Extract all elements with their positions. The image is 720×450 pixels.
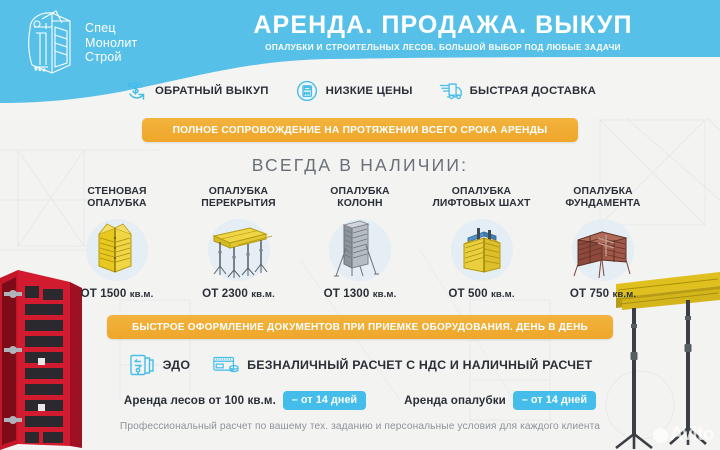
product-price: ОТ 1500 кв.м.: [58, 287, 176, 300]
term-badge: – от 14 дней: [283, 391, 366, 410]
feature-item: ОБРАТНЫЙ ВЫКУП: [124, 80, 269, 102]
brand-logo[interactable]: Спец Монолит Строй: [22, 9, 138, 77]
product-card[interactable]: ОПАЛУБКА ФУНДАМЕНТА: [544, 186, 662, 300]
feature-label: БЫСТРАЯ ДОСТАВКА: [470, 85, 596, 97]
payment-list: ЭДО БЕЗНАЛИЧНЫЙ РАСЧЕТ С НДС И НАЛИЧНЫЙ …: [0, 352, 720, 378]
calculator-circle-icon: [295, 80, 319, 102]
product-name: ОПАЛУБКА ЛИФТОВЫХ ШАХТ: [423, 186, 541, 211]
brand-name-line1: Спец: [85, 21, 138, 36]
feature-label: ОБРАТНЫЙ ВЫКУП: [155, 85, 269, 97]
support-banner: ПОЛНОЕ СОПРОВОЖДЕНИЕ НА ПРОТЯЖЕНИИ ВСЕГО…: [142, 118, 578, 142]
feature-item: БЫСТРАЯ ДОСТАВКА: [439, 80, 596, 102]
buyback-arrows-dollar-icon: [124, 80, 148, 102]
product-card[interactable]: ОПАЛУБКА КОЛОНН: [301, 186, 419, 300]
promo-banner: Спец Монолит Строй АРЕНДА. ПРОДАЖА. ВЫКУ…: [0, 0, 720, 450]
product-card[interactable]: ОПАЛУБКА ПЕРЕКРЫТИЯ: [180, 186, 298, 300]
product-list: СТЕНОВАЯ ОПАЛУБКА: [58, 186, 662, 300]
avito-watermark: Avito: [653, 424, 714, 446]
delivery-truck-icon: [439, 80, 463, 102]
edo-document-exchange-icon: [128, 352, 156, 378]
brand-name-line2: Монолит: [85, 36, 138, 51]
catalog-title: ВСЕГДА В НАЛИЧИИ:: [0, 155, 720, 176]
documents-banner: БЫСТРОЕ ОФОРМЛЕНИЕ ДОКУМЕНТОВ ПРИ ПРИЕМК…: [107, 315, 613, 339]
foundation-formwork-icon: [568, 218, 638, 282]
product-name: ОПАЛУБКА ФУНДАМЕНТА: [544, 186, 662, 211]
product-name: ОПАЛУБКА ПЕРЕКРЫТИЯ: [180, 186, 298, 211]
product-name: СТЕНОВАЯ ОПАЛУБКА: [58, 186, 176, 211]
brand-name-line3: Строй: [85, 50, 138, 65]
product-card[interactable]: ОПАЛУБКА ЛИФТОВЫХ ШАХТ: [423, 186, 541, 300]
card-and-coins-icon: [212, 352, 240, 378]
watermark-dot: [653, 428, 668, 443]
product-art: [423, 213, 541, 287]
term-item: Аренда лесов от 100 кв.м. – от 14 дней: [124, 391, 366, 410]
payment-label: ЭДО: [163, 358, 191, 372]
term-badge: – от 14 дней: [513, 391, 596, 410]
slab-formwork-icon: [204, 218, 274, 282]
payment-item: БЕЗНАЛИЧНЫЙ РАСЧЕТ С НДС И НАЛИЧНЫЙ РАСЧ…: [212, 352, 592, 378]
product-price: ОТ 500 кв.м.: [423, 287, 541, 300]
feature-label: НИЗКИЕ ЦЕНЫ: [326, 85, 413, 97]
wall-formwork-icon: [85, 218, 149, 282]
subheadline: ОПАЛУБКИ И СТРОИТЕЛЬНЫХ ЛЕСОВ. БОЛЬШОЙ В…: [170, 43, 716, 52]
feature-item: НИЗКИЕ ЦЕНЫ: [295, 80, 413, 102]
terms-list: Аренда лесов от 100 кв.м. – от 14 дней А…: [0, 391, 720, 410]
product-art: [180, 213, 298, 287]
headline: АРЕНДА. ПРОДАЖА. ВЫКУП: [170, 11, 716, 40]
term-item: Аренда опалубки – от 14 дней: [404, 391, 596, 410]
footer-note: Профессиональный расчет по вашему тех. з…: [0, 421, 720, 432]
product-art: [58, 213, 176, 287]
term-label: Аренда опалубки: [404, 394, 506, 407]
support-banner-text: ПОЛНОЕ СОПРОВОЖДЕНИЕ НА ПРОТЯЖЕНИИ ВСЕГО…: [173, 125, 548, 136]
product-card[interactable]: СТЕНОВАЯ ОПАЛУБКА: [58, 186, 176, 300]
product-art: [544, 213, 662, 287]
product-price: ОТ 2300 кв.м.: [180, 287, 298, 300]
brand-name: Спец Монолит Строй: [85, 21, 138, 65]
building-crane-line-art-icon: [22, 9, 78, 77]
product-name: ОПАЛУБКА КОЛОНН: [301, 186, 419, 211]
term-label: Аренда лесов от 100 кв.м.: [124, 394, 276, 407]
watermark-text: Avito: [670, 424, 714, 446]
payment-label: БЕЗНАЛИЧНЫЙ РАСЧЕТ С НДС И НАЛИЧНЫЙ РАСЧ…: [247, 358, 592, 372]
documents-banner-text: БЫСТРОЕ ОФОРМЛЕНИЕ ДОКУМЕНТОВ ПРИ ПРИЕМК…: [132, 322, 588, 333]
product-price: ОТ 750 кв.м.: [544, 287, 662, 300]
shaft-formwork-icon: [450, 218, 514, 282]
headline-block: АРЕНДА. ПРОДАЖА. ВЫКУП ОПАЛУБКИ И СТРОИТ…: [170, 11, 716, 52]
product-price: ОТ 1300 кв.м.: [301, 287, 419, 300]
column-formwork-icon: [330, 218, 390, 282]
payment-item: ЭДО: [128, 352, 191, 378]
product-art: [301, 213, 419, 287]
feature-list: ОБРАТНЫЙ ВЫКУП НИЗКИЕ ЦЕНЫ: [0, 80, 720, 102]
